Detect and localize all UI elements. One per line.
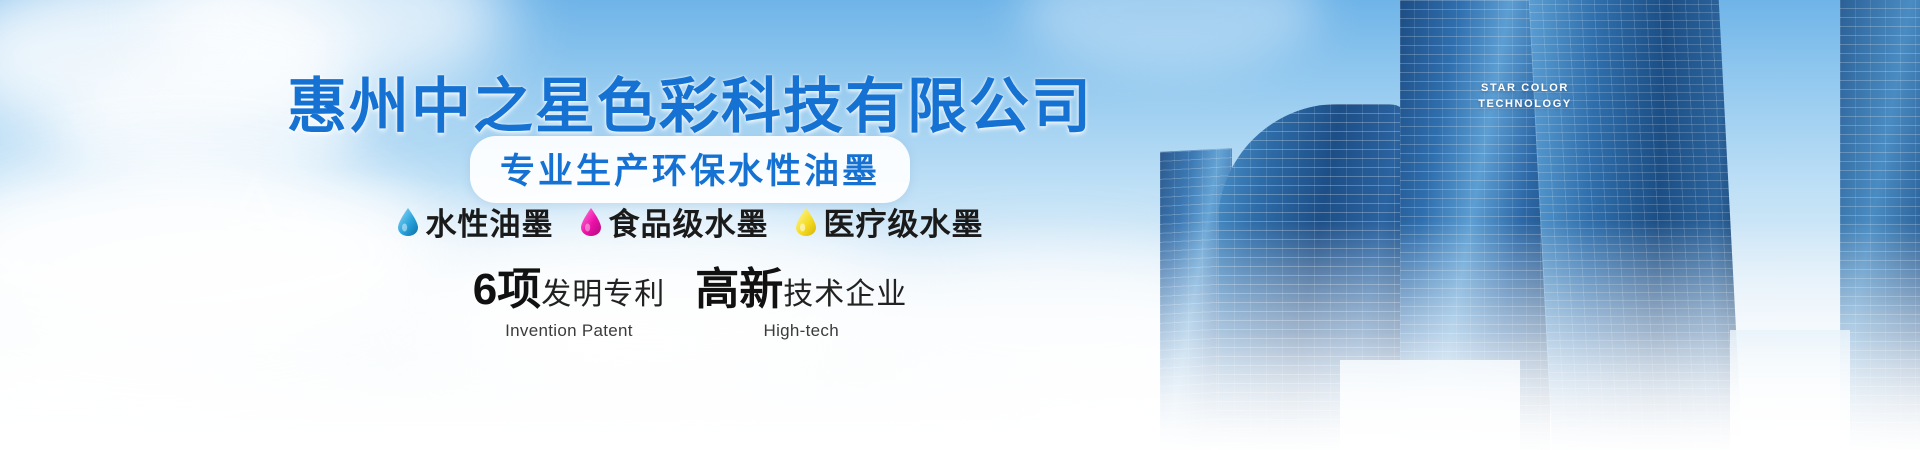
badge-en-label: High-tech (695, 321, 907, 341)
badge-highlight: 6项 (473, 265, 541, 314)
ink-product-label: 医疗级水墨 (824, 199, 984, 244)
ink-product-list: 水性油墨 食品级水墨 (0, 199, 1380, 244)
list-item: 水性油墨 (397, 199, 554, 244)
slogan-pill: 专业生产环保水性油墨 (470, 136, 910, 203)
list-item: 食品级水墨 (580, 199, 769, 244)
badge-subtext: 发明专利 (541, 278, 665, 311)
ink-product-label: 水性油墨 (426, 199, 554, 244)
badge-en-label: Invention Patent (473, 321, 665, 341)
badge-cn-line: 高新技术企业 (695, 268, 907, 312)
tower-brand-line-1: STAR COLOR (1455, 80, 1595, 96)
company-title: 惠州中之星色彩科技有限公司 (0, 58, 1380, 145)
water-drop-icon (397, 207, 419, 237)
badge-highlight: 高新 (695, 265, 783, 314)
badge-subtext: 技术企业 (783, 278, 907, 311)
slogan-text: 专业生产环保水性油墨 (500, 143, 880, 194)
badge-invention-patent: 6项发明专利 Invention Patent (473, 268, 665, 341)
tower-brand-lockup: STAR COLOR TECHNOLOGY (1455, 80, 1595, 112)
list-item: 医疗级水墨 (795, 199, 984, 244)
badge-high-tech: 高新技术企业 High-tech (695, 268, 907, 341)
badge-cn-line: 6项发明专利 (473, 268, 665, 312)
credential-badges: 6项发明专利 Invention Patent 高新技术企业 High-tech (0, 268, 1380, 341)
water-drop-icon (580, 207, 602, 237)
water-drop-icon (795, 207, 817, 237)
tower-brand-line-2: TECHNOLOGY (1455, 96, 1595, 112)
banner-content: 惠州中之星色彩科技有限公司 专业生产环保水性油墨 水性油墨 (0, 0, 1380, 450)
ink-product-label: 食品级水墨 (609, 199, 769, 244)
promo-banner: STAR COLOR TECHNOLOGY Star Color 惠州中之星色彩… (0, 0, 1920, 450)
